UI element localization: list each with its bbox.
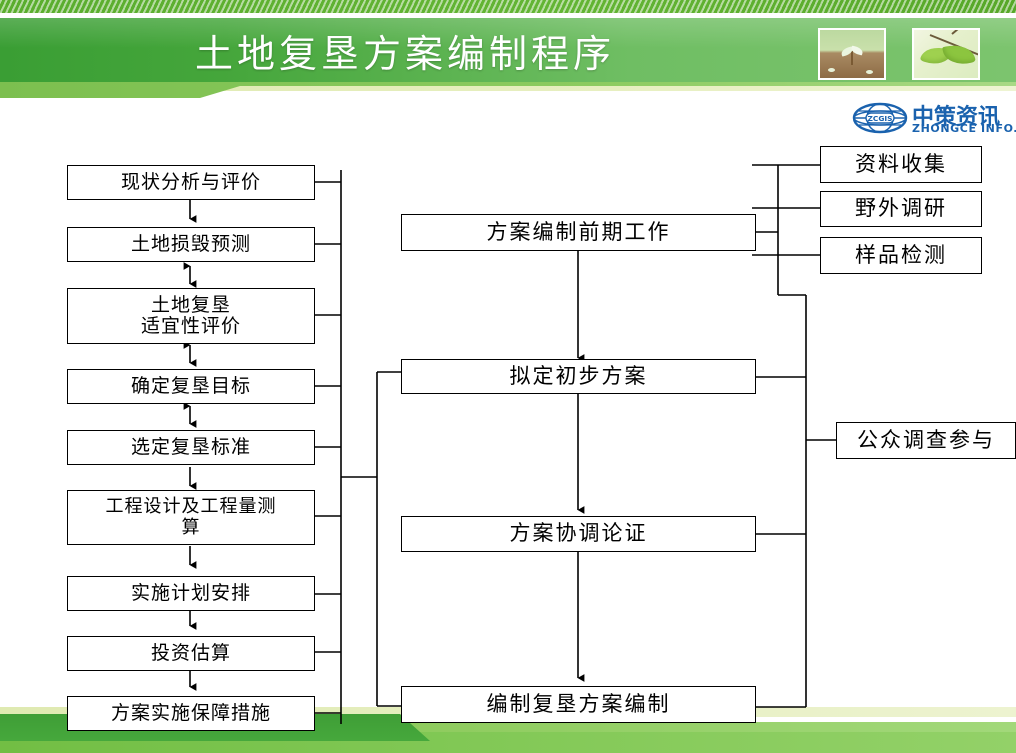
node-damage-prediction[interactable]: 土地损毁预测 bbox=[67, 227, 315, 262]
node-suitability-evaluation[interactable]: 土地复垦 适宜性评价 bbox=[67, 288, 315, 344]
node-plan-coordination[interactable]: 方案协调论证 bbox=[401, 516, 756, 552]
node-preliminary-work[interactable]: 方案编制前期工作 bbox=[401, 214, 756, 251]
node-reclamation-standard[interactable]: 选定复垦标准 bbox=[67, 430, 315, 465]
node-engineering-design-line2: 算 bbox=[182, 518, 201, 538]
node-sample-testing[interactable]: 样品检测 bbox=[820, 237, 982, 274]
slide-canvas: 土地复垦方案编制程序 ZCGIS bbox=[0, 0, 1016, 753]
node-compile-plan[interactable]: 编制复垦方案编制 bbox=[401, 686, 756, 723]
node-reclamation-goal[interactable]: 确定复垦目标 bbox=[67, 369, 315, 404]
node-data-collection[interactable]: 资料收集 bbox=[820, 146, 982, 183]
node-status-analysis[interactable]: 现状分析与评价 bbox=[67, 165, 315, 200]
node-guarantee-measures[interactable]: 方案实施保障措施 bbox=[67, 696, 315, 731]
node-suitability-evaluation-line2: 适宜性评价 bbox=[141, 316, 241, 337]
node-public-participation[interactable]: 公众调查参与 bbox=[836, 422, 1016, 459]
node-implementation-plan[interactable]: 实施计划安排 bbox=[67, 576, 315, 611]
node-draft-plan[interactable]: 拟定初步方案 bbox=[401, 359, 756, 394]
node-investment-estimate[interactable]: 投资估算 bbox=[67, 636, 315, 671]
node-suitability-evaluation-line1: 土地复垦 bbox=[151, 295, 231, 316]
node-engineering-design-line1: 工程设计及工程量测 bbox=[106, 497, 277, 517]
node-field-survey[interactable]: 野外调研 bbox=[820, 191, 982, 227]
node-engineering-design[interactable]: 工程设计及工程量测 算 bbox=[67, 490, 315, 545]
